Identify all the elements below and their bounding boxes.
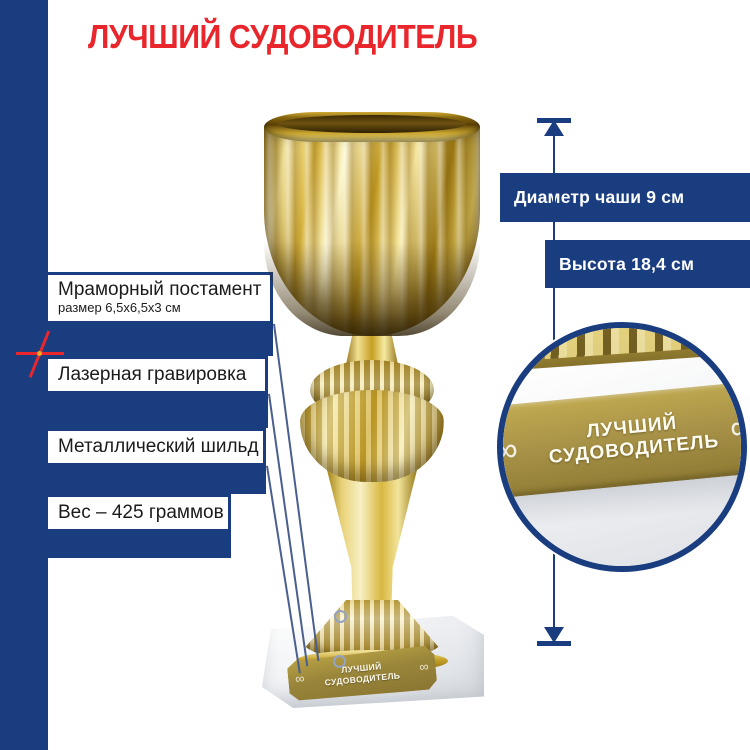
callout-2-line1: Металлический шильд bbox=[58, 437, 257, 458]
magnifier-flourish-left-icon: ∞ bbox=[497, 430, 520, 471]
leader-endpoint-lower bbox=[333, 655, 346, 668]
red-cross-marker-icon bbox=[16, 330, 64, 378]
trophy-image: ∞ ЛУЧШИЙ СУДОВОДИТЕЛЬ ∞ bbox=[252, 112, 492, 712]
magnifier-plate-text: ЛУЧШИЙ СУДОВОДИТЕЛЬ bbox=[524, 409, 720, 471]
callout-bracket-0 bbox=[45, 324, 273, 356]
product-infographic: ЛУЧШИЙ СУДОВОДИТЕЛЬ ∞ ЛУЧШИЙ СУДОВОДИТЕЛ… bbox=[0, 0, 750, 750]
stem-bowl bbox=[300, 390, 444, 482]
callout-laser-engraving: Лазерная гравировка bbox=[45, 356, 268, 394]
flourish-right-icon: ∞ bbox=[419, 659, 430, 675]
callout-bracket-1 bbox=[45, 394, 268, 428]
callout-marble-pedestal: Мраморный постамент размер 6,5х6,5х3 см bbox=[45, 272, 273, 324]
cup-bowl-shading bbox=[264, 242, 480, 336]
callout-metal-shield: Металлический шильд bbox=[45, 428, 266, 466]
callout-bracket-3 bbox=[45, 532, 231, 558]
callout-0-line2: размер 6,5х6,5х3 см bbox=[58, 301, 264, 316]
callout-0-line1: Мраморный постамент bbox=[58, 280, 264, 301]
magnifier-detail-circle: ∞ ЛУЧШИЙ СУДОВОДИТЕЛЬ ∞ bbox=[497, 322, 747, 572]
callout-1-line1: Лазерная гравировка bbox=[58, 365, 259, 386]
page-title: ЛУЧШИЙ СУДОВОДИТЕЛЬ bbox=[88, 18, 477, 56]
dimension-bar-cup-diameter: Диаметр чаши 9 см bbox=[500, 173, 750, 222]
callout-weight: Вес – 425 граммов bbox=[45, 494, 231, 532]
cup-rim-inner bbox=[278, 115, 466, 133]
leader-endpoint-upper bbox=[334, 610, 347, 623]
callout-bracket-2 bbox=[45, 466, 266, 494]
magnifier-flourish-right-icon: ∞ bbox=[728, 407, 747, 448]
arrow-down-icon bbox=[544, 627, 564, 643]
arrow-up-icon bbox=[544, 120, 564, 136]
dimension-bar-height: Высота 18,4 см bbox=[545, 240, 750, 288]
callout-3-line1: Вес – 425 граммов bbox=[58, 503, 222, 524]
